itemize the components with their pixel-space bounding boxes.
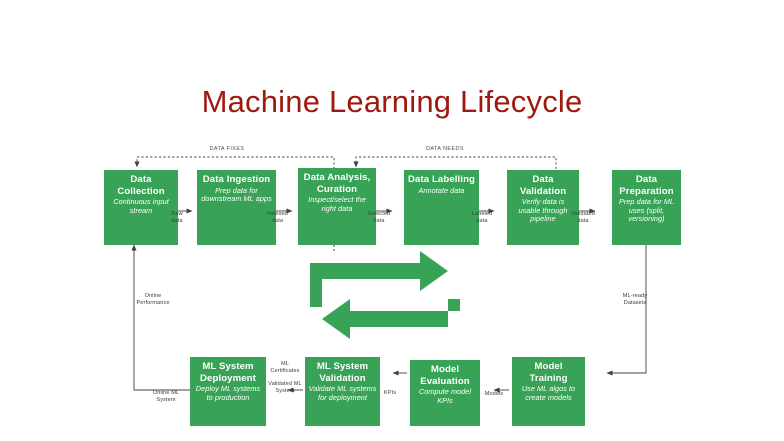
node-subtitle: Prep data for downstream ML apps: [200, 187, 273, 204]
node-subtitle: Validate ML systems for deployment: [308, 385, 377, 402]
node-ml-system-deployment[interactable]: ML System Deployment Deploy ML systems t…: [190, 357, 266, 426]
node-model-evaluation[interactable]: Model Evaluation Compute model KPIs: [410, 360, 480, 426]
flow-label-online-ml-system: Online ML System: [148, 390, 184, 403]
node-data-collection[interactable]: Data Collection Continuous input stream: [104, 170, 178, 245]
node-data-validation[interactable]: Data Validation Verify data is usable th…: [507, 170, 579, 245]
node-data-ingestion[interactable]: Data Ingestion Prep data for downstream …: [197, 170, 276, 245]
flow-label-labeled-data: Labeled data: [469, 211, 495, 224]
flow-label-indexed-data: Indexed data: [264, 211, 291, 224]
node-title: Data Validation: [510, 174, 576, 197]
node-title: ML System Validation: [308, 361, 377, 384]
flow-label-online-performance: Online Performance: [132, 293, 174, 306]
node-subtitle: Inspect/select the right data: [301, 196, 373, 213]
node-title: Model Evaluation: [413, 364, 477, 387]
cycle-refresh-icon: [300, 249, 470, 339]
flow-label-ml-certificates: ML Certificates: [268, 361, 302, 374]
node-title: ML System Deployment: [193, 361, 263, 384]
flow-label-kpis: KPIs: [381, 390, 399, 397]
node-title: Data Labelling: [407, 174, 476, 186]
node-subtitle: Use ML algos to create models: [515, 385, 582, 402]
flow-label-models: Models: [483, 391, 505, 398]
flow-label-validated-ml-system: Validated ML System: [266, 381, 304, 394]
node-subtitle: Deploy ML systems to production: [193, 385, 263, 402]
node-model-training[interactable]: Model Training Use ML algos to create mo…: [512, 357, 585, 426]
node-title: Data Analysis, Curation: [301, 172, 373, 195]
node-subtitle: Prep data for ML uses (split, versioning…: [615, 198, 678, 224]
node-data-labelling[interactable]: Data Labelling Annotate data: [404, 170, 479, 245]
node-data-analysis-curation[interactable]: Data Analysis, Curation Inspect/select t…: [298, 168, 376, 245]
node-subtitle: Verify data is usable through pipeline: [510, 198, 576, 224]
node-subtitle: Annotate data: [407, 187, 476, 196]
data-needs-banner: DATA NEEDS: [390, 146, 500, 152]
node-title: Data Preparation: [615, 174, 678, 197]
node-title: Model Training: [515, 361, 582, 384]
flow-label-validated-data: Validated data: [569, 211, 597, 224]
node-subtitle: Compute model KPIs: [413, 388, 477, 405]
slide-canvas: Machine Learning Lifecycle: [0, 0, 784, 441]
node-title: Data Collection: [107, 174, 175, 197]
node-data-preparation[interactable]: Data Preparation Prep data for ML uses (…: [612, 170, 681, 245]
flow-label-raw-data: Raw data: [165, 211, 189, 224]
flow-label-ml-ready-datasets: ML-ready Datasets: [615, 293, 655, 306]
node-ml-system-validation[interactable]: ML System Validation Validate ML systems…: [305, 357, 380, 426]
node-title: Data Ingestion: [200, 174, 273, 186]
ml-lifecycle-diagram: DATA FIXES DATA NEEDS Data Collection Co…: [0, 0, 784, 441]
data-fixes-banner: DATA FIXES: [172, 146, 282, 152]
flow-label-selected-data: Selected data: [365, 211, 393, 224]
